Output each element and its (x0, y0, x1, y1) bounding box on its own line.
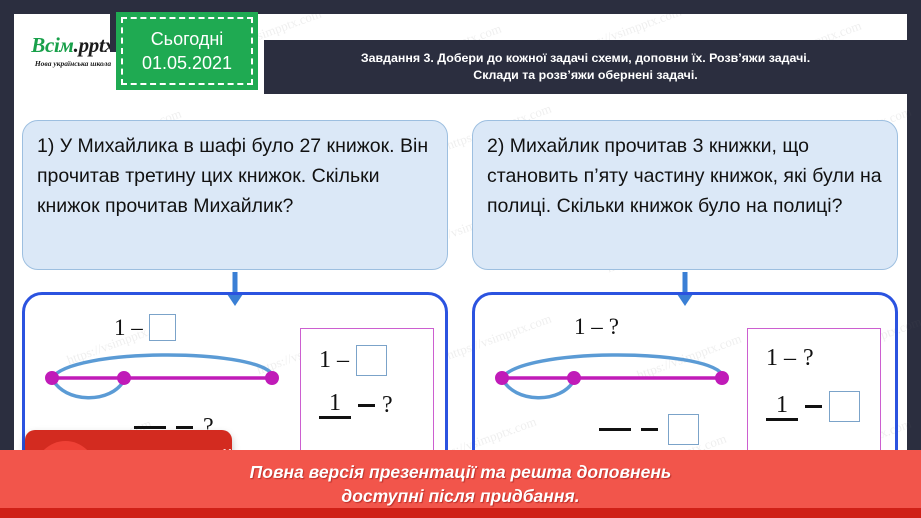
scheme-2-result-numerator: 1 (776, 393, 788, 417)
scheme-1-top-prefix: 1 – (114, 315, 143, 341)
scheme-2-result-row1: 1 – ? (766, 345, 814, 372)
scheme-1-result-fraction-bar (319, 416, 351, 419)
slide-page: https://vsimpptx.com https://vsimpptx.co… (14, 14, 907, 518)
scheme-1-result-row1-prefix: 1 – (319, 347, 349, 374)
purchase-notice-line2: доступні після придбання. (341, 484, 579, 508)
scheme-1-result-box: 1 – 1 ? (300, 328, 434, 459)
assignment-header: Завдання 3. Добери до кожної задачі схем… (264, 40, 907, 94)
scheme-1-result-numerator: 1 (329, 391, 341, 415)
today-label: Сьогодні (151, 27, 224, 51)
scheme-1-result-row2: 1 ? (319, 391, 393, 419)
scheme-2-result-row2: 1 (766, 391, 860, 422)
scheme-1-minus-sign (176, 426, 193, 429)
scheme-1-result-minus (358, 404, 375, 407)
scheme-1-top-answer-box[interactable] (149, 314, 176, 341)
scheme-1-segment-diagram (42, 350, 292, 411)
logo-subtitle: Нова українська школа (35, 59, 111, 68)
scheme-2-result-row1-prefix: 1 – (766, 345, 796, 372)
scheme-2-lower-answer-box[interactable] (668, 414, 699, 445)
today-date: 01.05.2021 (142, 51, 232, 75)
scheme-1-top-label: 1 – (114, 314, 176, 341)
scheme-2-result-row1-value: ? (803, 345, 814, 372)
assignment-header-line2: Склади та розв’яжи обернені задачі. (361, 67, 810, 84)
scheme-2-result-fraction: 1 (766, 393, 798, 421)
purchase-notice-line1: Повна версія презентації та решта доповн… (250, 460, 672, 484)
today-date-badge: Сьогодні 01.05.2021 (116, 12, 258, 90)
scheme-2-result-minus (805, 405, 822, 408)
scheme-2-minus-sign (641, 428, 658, 431)
scheme-2-top-prefix: 1 – (574, 314, 603, 340)
scheme-2-result-fraction-bar (766, 418, 798, 421)
scheme-2-top-label: 1 – ? (574, 314, 619, 340)
scheme-1-result-fraction: 1 (319, 391, 351, 419)
task-text-1: 1) У Михайлика в шафі було 27 книжок. Ві… (22, 120, 448, 270)
assignment-header-line1: Завдання 3. Добери до кожної задачі схем… (361, 50, 810, 67)
purchase-notice-banner: Повна версія презентації та решта доповн… (0, 450, 921, 518)
scheme-2-result-row2-box[interactable] (829, 391, 860, 422)
logo-word-vsim: Всім (31, 33, 73, 57)
scheme-2-lower-row (599, 414, 699, 445)
logo-wordmark: Всім.pptx (31, 33, 114, 58)
scheme-1-result-row2-value: ? (382, 392, 393, 419)
scheme-2-segment-diagram (492, 350, 742, 411)
slide-frame: https://vsimpptx.com https://vsimpptx.co… (0, 0, 921, 518)
scheme-2-top-value: ? (609, 314, 619, 340)
scheme-2-fraction-bar (599, 428, 631, 431)
scheme-1-result-row1-box[interactable] (356, 345, 387, 376)
task-text-2: 2) Михайлик прочитав 3 книжки, що станов… (472, 120, 898, 270)
scheme-2-result-box: 1 – ? 1 (747, 328, 881, 459)
scheme-1-result-row1: 1 – (319, 345, 387, 376)
scheme-1-fraction-bar (134, 426, 166, 429)
